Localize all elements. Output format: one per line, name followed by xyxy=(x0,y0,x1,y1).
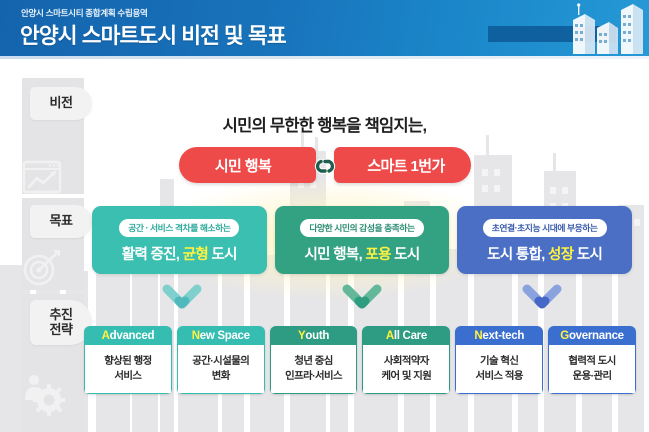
strategy-section-label: 추진 전략 xyxy=(30,300,92,345)
strategy-head: All Care xyxy=(362,326,450,345)
target-dart-icon xyxy=(22,248,62,286)
strategy-card-governance: Governance 협력적 도시 운용·관리 xyxy=(548,326,636,394)
strategy-head: New Space xyxy=(177,326,265,345)
chevron-slot-balance xyxy=(92,282,272,312)
person-gear-icon xyxy=(22,372,66,416)
header-subtitle: 안양시 스마트시티 종합계획 수립용역 xyxy=(21,7,148,19)
strategy-card-next-tech: Next-tech 기술 혁신 서비스 적용 xyxy=(455,326,543,394)
strategy-body: 기술 혁신 서비스 적용 xyxy=(455,345,543,394)
goal-tag: 다양한 시민의 감성을 충족하는 xyxy=(300,219,423,237)
vision-pill-smart-first-street: 스마트 1번가 xyxy=(334,147,471,183)
strategy-body: 사회적약자 케어 및 지원 xyxy=(362,345,450,394)
strategy-head: Advanced xyxy=(84,326,172,345)
chevron-row xyxy=(92,282,632,312)
chevron-slot-happiness xyxy=(272,282,452,312)
strategy-card-new-space: New Space 공간·시설물의 변화 xyxy=(177,326,265,394)
chevron-slot-growth xyxy=(452,282,632,312)
page-title: 안양시 스마트도시 비전 및 목표 xyxy=(20,19,286,50)
goals-row: 공간 · 서비스 격차를 해소하는 활력 증진, 균형 도시 다양한 시민의 감… xyxy=(92,206,632,274)
strategy-body: 공간·시설물의 변화 xyxy=(177,345,265,394)
chevron-down-icon-growth xyxy=(522,284,562,310)
goal-card-inclusion: 다양한 시민의 감성을 충족하는 시민 행복, 포용 도시 xyxy=(275,206,450,274)
slide-root: 안양시 스마트시티 종합계획 수립용역 안양시 스마트도시 비전 및 목표 xyxy=(0,0,649,432)
city-buildings-icon xyxy=(565,2,647,56)
strategy-body: 협력적 도시 운용·관리 xyxy=(548,345,636,394)
strategy-card-all-care: All Care 사회적약자 케어 및 지원 xyxy=(362,326,450,394)
goal-tag: 공간 · 서비스 격차를 해소하는 xyxy=(119,219,239,237)
strategy-row: Advanced 향상된 행정 서비스 New Space 공간·시설물의 변화… xyxy=(84,326,636,394)
goal-title: 시민 행복, 포용 도시 xyxy=(304,243,419,264)
strategy-card-youth: Youth 청년 중심 인프라·서비스 xyxy=(270,326,358,394)
vision-pill-citizen-happiness: 시민 행복 xyxy=(179,147,316,183)
chevron-down-icon-balance xyxy=(162,284,202,310)
goal-card-balance: 공간 · 서비스 격차를 해소하는 활력 증진, 균형 도시 xyxy=(92,206,267,274)
strategy-card-advanced: Advanced 향상된 행정 서비스 xyxy=(84,326,172,394)
goal-section-label: 목표 xyxy=(30,205,92,238)
vision-banner: 시민 행복 스마트 1번가 xyxy=(0,147,649,183)
goal-tag: 초연결·초지능 시대에 부응하는 xyxy=(483,219,607,237)
strategy-body: 청년 중심 인프라·서비스 xyxy=(270,345,358,394)
chain-link-icon xyxy=(307,147,343,183)
vision-lead-text: 시민의 무한한 행복을 책임지는, xyxy=(0,112,649,136)
goal-title: 활력 증진, 균형 도시 xyxy=(122,243,237,264)
strategy-head: Youth xyxy=(270,326,358,345)
goal-title: 도시 통합, 성장 도시 xyxy=(487,243,602,264)
strategy-head: Governance xyxy=(548,326,636,345)
goal-card-growth: 초연결·초지능 시대에 부응하는 도시 통합, 성장 도시 xyxy=(457,206,632,274)
strategy-head: Next-tech xyxy=(455,326,543,345)
chevron-down-icon-happiness xyxy=(342,284,382,310)
strategy-body: 향상된 행정 서비스 xyxy=(84,345,172,394)
slide-header: 안양시 스마트시티 종합계획 수립용역 안양시 스마트도시 비전 및 목표 xyxy=(0,0,649,56)
